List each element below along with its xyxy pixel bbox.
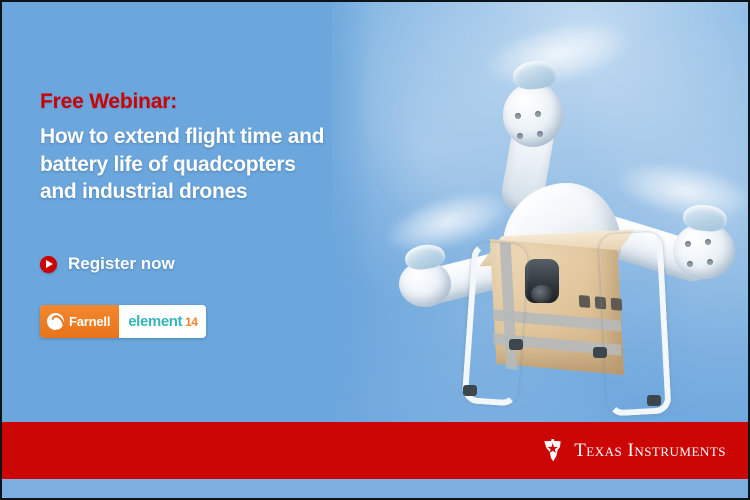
footer-bottom-strip [2, 479, 748, 500]
farnell-logo-panel: Farnell [40, 305, 119, 338]
drone-illustration [397, 47, 737, 397]
texas-state-star-icon [540, 438, 565, 463]
headline-line-2: battery life of quadcopters [40, 151, 380, 179]
headline-line-1: How to extend flight time and [40, 123, 380, 151]
farnell-swirl-icon [47, 313, 64, 330]
sky-flat-left-panel [2, 2, 332, 422]
farnell-element14-logo[interactable]: Farnell element 14 [40, 305, 206, 338]
landing-leg-left [461, 241, 528, 407]
propeller-blur-front-right-icon [612, 153, 750, 229]
motor-vent-dots-right [683, 239, 723, 277]
landing-leg-right [598, 231, 671, 416]
landing-foot-1 [463, 385, 477, 396]
landing-foot-3 [509, 339, 523, 350]
landing-foot-4 [593, 347, 607, 358]
webinar-kicker: Free Webinar: [40, 90, 380, 114]
promo-copy-block: Free Webinar: How to extend flight time … [40, 90, 380, 206]
farnell-wordmark: Farnell [69, 314, 110, 329]
drone-camera-gimbal [525, 259, 559, 303]
motor-vent-dots-upper [513, 111, 553, 149]
element14-logo-panel: element 14 [119, 305, 206, 338]
register-now-button[interactable]: Register now [40, 254, 175, 274]
texas-instruments-logo[interactable]: Texas Instruments [540, 438, 726, 463]
register-now-label: Register now [68, 254, 175, 274]
texas-instruments-wordmark: Texas Instruments [574, 440, 726, 462]
headline-line-3: and industrial drones [40, 178, 380, 206]
play-triangle-icon [40, 256, 57, 273]
element-wordmark: element [128, 313, 182, 330]
landing-foot-2 [647, 395, 661, 406]
element14-number-badge: 14 [185, 315, 197, 329]
footer-bar: Texas Instruments [2, 422, 748, 479]
page-title: How to extend flight time and battery li… [40, 123, 380, 206]
webinar-promo-banner: Free Webinar: How to extend flight time … [0, 0, 750, 500]
